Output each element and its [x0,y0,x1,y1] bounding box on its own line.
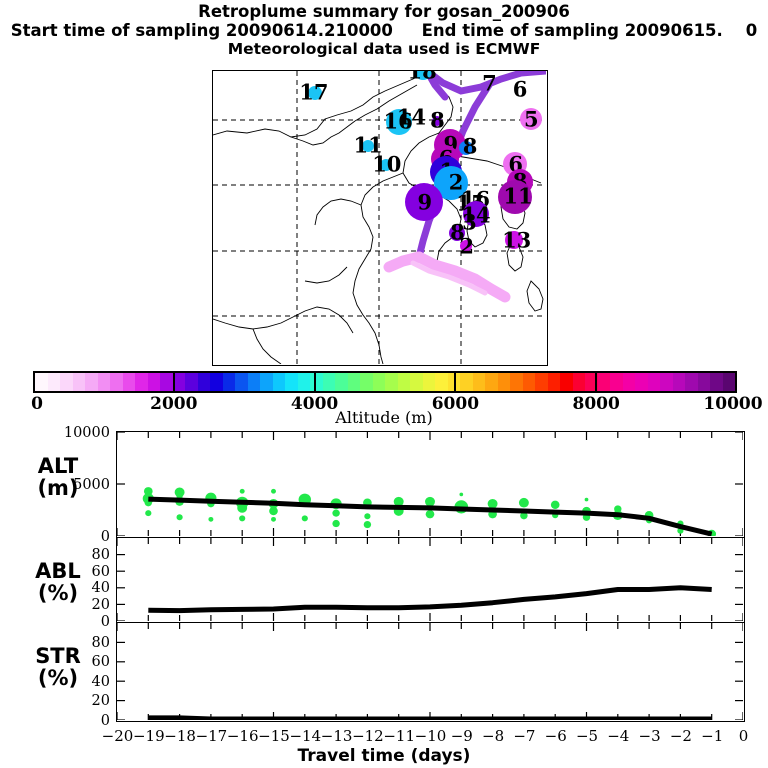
x-axis-title: Travel time (days) [0,746,768,766]
y-tick-marks [117,642,743,720]
map-gridlines [213,71,546,364]
colorbar-segment [423,373,436,391]
y-tick-label: 10000 [32,425,110,441]
colorbar-segment [160,373,173,391]
scatter-point [177,514,183,520]
map-marker-label: 7 [482,72,497,93]
x-tick-label: −18 [164,727,196,745]
colorbar-divider [173,371,175,393]
y-tick-label: 0 [32,529,110,545]
colorbar-segment [685,373,698,391]
x-tick-label: −16 [227,727,259,745]
scatter-point [145,510,151,516]
colorbar-segment [648,373,661,391]
scatter-point [269,507,278,515]
colorbar-segment [698,373,711,391]
colorbar-segment [610,373,623,391]
colorbar-segment [435,373,448,391]
map-marker-label: 17 [299,82,328,103]
page-title: Retroplume summary for gosan_200906 [0,2,768,21]
colorbar-segment [285,373,298,391]
scatter-point [459,493,463,497]
colorbar-segment [235,373,248,391]
scatter-point [426,510,435,518]
scatter-point [271,517,276,522]
colorbar-segment [398,373,411,391]
scatter-point [519,498,529,508]
scatter-point [425,497,435,507]
x-tick-label: −6 [545,727,567,745]
scatter-point [271,489,276,494]
scatter-point [240,489,245,494]
colorbar-segment [510,373,523,391]
str-mean-line [148,718,711,719]
colorbar-segment [348,373,361,391]
colorbar-segment [360,373,373,391]
coastline-paths [213,73,543,364]
colorbar-segment [460,373,473,391]
map-marker-label: 8 [463,135,478,156]
colorbar-segment [60,373,73,391]
x-tick-label: −11 [383,727,415,745]
altitude-panel[interactable] [116,431,745,538]
x-tick-label: −14 [289,727,321,745]
map-marker-label: 18 [407,70,436,82]
scatter-point [302,515,308,521]
map-canvas [213,71,546,364]
colorbar-divider [595,371,597,393]
y-tick-label: 40 [48,674,110,690]
colorbar-segment [485,373,498,391]
str-plot-canvas [117,623,743,720]
meteo-data-line: Meteorological data used is ECMWF [0,40,768,58]
colorbar-segment [35,373,48,391]
colorbar-segment [548,373,561,391]
map-marker-label: 14 [397,107,426,128]
colorbar-segment [323,373,336,391]
y-tick-label: 80 [48,547,110,563]
map-marker-label: 6 [513,79,528,100]
abl-panel[interactable] [116,537,745,623]
scatter-point [585,498,589,502]
x-tick-label: −7 [513,727,535,745]
x-tick-label: −13 [321,727,353,745]
colorbar-segment [185,373,198,391]
altitude-colorbar[interactable] [33,371,737,393]
colorbar-segment [210,373,223,391]
colorbar-segment [373,373,386,391]
y-tick-label: 40 [48,580,110,596]
colorbar-segment [198,373,211,391]
colorbar-segment [535,373,548,391]
x-tick-label: −2 [670,727,692,745]
colorbar-segment [135,373,148,391]
map-marker-label: 8 [430,110,445,131]
x-tick-label: −20 [102,727,134,745]
colorbar-segment [673,373,686,391]
x-tick-label: −3 [639,727,661,745]
title-block: Retroplume summary for gosan_200906 Star… [0,2,768,58]
x-tick-label: −8 [482,727,504,745]
x-tick-label: −10 [415,727,447,745]
colorbar-segment [635,373,648,391]
colorbar-segment [623,373,636,391]
x-tick-marks [117,623,743,720]
y-tick-label: 20 [48,693,110,709]
map-marker-label: 9 [417,191,432,212]
x-tick-label: −5 [576,727,598,745]
abl-plot-canvas [117,538,743,621]
colorbar-segment [148,373,161,391]
colorbar-divider [454,371,456,393]
alt-label-line1: ALT [6,455,110,477]
colorbar-divider [314,371,316,393]
str-panel[interactable] [116,622,745,722]
colorbar-segment [123,373,136,391]
altitude-scatter-points [143,487,716,536]
colorbar-segment [298,373,311,391]
alt-plot-canvas [117,432,743,536]
scatter-point [332,520,339,527]
colorbar-segment [573,373,586,391]
scatter-point [208,517,213,522]
abl-mean-line [148,588,711,611]
colorbar-segment [260,373,273,391]
colorbar-segment [85,373,98,391]
x-tick-label: −19 [133,727,165,745]
scatter-point [488,499,498,509]
colorbar-segment [498,373,511,391]
colorbar-segment [223,373,236,391]
colorbar-segment [335,373,348,391]
colorbar-segment [48,373,61,391]
x-tick-label: −4 [607,727,629,745]
colorbar-segment [710,373,723,391]
y-tick-label: 0 [48,614,110,630]
colorbar-segment [273,373,286,391]
scatter-point [332,510,339,517]
map-marker-label: 10 [372,154,401,175]
colorbar-segment [523,373,536,391]
colorbar-segment [560,373,573,391]
retroplume-map[interactable]: 1718765161481110986612811916151438213 [212,70,548,366]
scatter-point [144,487,153,495]
x-tick-label: −12 [352,727,384,745]
colorbar-axis-title: Altitude (m) [0,408,768,427]
scatter-point [551,501,560,509]
y-tick-label: 20 [48,597,110,613]
colorbar-segment [598,373,611,391]
x-tick-label: −17 [196,727,228,745]
x-tick-label: −9 [451,727,473,745]
colorbar-segment [410,373,423,391]
scatter-point [364,513,370,519]
colorbar-segment [310,373,323,391]
y-tick-label: 60 [48,564,110,580]
y-tick-label: 5000 [32,477,110,493]
x-tick-label: 0 [739,727,749,745]
map-marker-label: 11 [503,186,532,207]
scatter-point [239,515,245,521]
y-tick-label: 60 [48,654,110,670]
map-marker-label: 5 [524,109,539,130]
sampling-time-line: Start time of sampling 20090614.210000 E… [0,21,768,40]
colorbar-segment [73,373,86,391]
x-tick-label: −1 [701,727,723,745]
colorbar-segment [660,373,673,391]
map-marker-label: 13 [502,229,531,250]
map-marker-label: 2 [459,235,474,256]
y-tick-label: 80 [48,635,110,651]
colorbar-segment [723,373,736,391]
colorbar-segment [110,373,123,391]
colorbar-segment [248,373,261,391]
x-tick-label: −15 [258,727,290,745]
colorbar-segment [98,373,111,391]
colorbar-segment [473,373,486,391]
scatter-point [364,521,371,528]
colorbar-segment [385,373,398,391]
